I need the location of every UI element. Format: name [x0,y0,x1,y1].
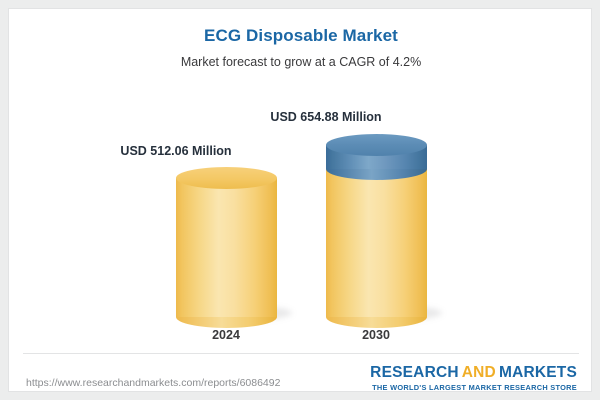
bar-cylinder-2030-growth[interactable] [326,134,427,180]
logo-tagline: THE WORLD'S LARGEST MARKET RESEARCH STOR… [370,383,577,392]
screenshot-frame: ECG Disposable Market Market forecast to… [0,0,600,400]
bar-category-label-2024: 2024 [146,328,306,342]
footer-divider [23,353,579,354]
bar-cylinder-2030-base[interactable] [326,169,427,317]
bar-category-label-2030: 2030 [296,328,456,342]
cylinder-body-2024 [176,178,277,317]
logo-wordmark: RESEARCHANDMARKETS [370,365,577,381]
bar-cylinder-2024[interactable] [176,167,277,317]
chart-card: ECG Disposable Market Market forecast to… [8,8,592,392]
report-url[interactable]: https://www.researchandmarkets.com/repor… [26,377,280,389]
research-and-markets-logo[interactable]: RESEARCHANDMARKETS THE WORLD'S LARGEST M… [370,365,577,392]
cylinder-body-2030-base [326,169,427,317]
bar-value-label-2024: USD 512.06 Million [66,144,286,158]
cylinder-top-cap-2030 [326,134,427,156]
bar-value-label-2030: USD 654.88 Million [216,110,436,124]
logo-word-research: RESEARCH [370,364,459,381]
chart-plot-area: USD 512.06 Million 2024 USD 654.88 Milli… [9,9,592,392]
cylinder-top-cap-2024 [176,167,277,189]
logo-word-and: AND [462,364,496,381]
logo-word-markets: MARKETS [499,364,577,381]
